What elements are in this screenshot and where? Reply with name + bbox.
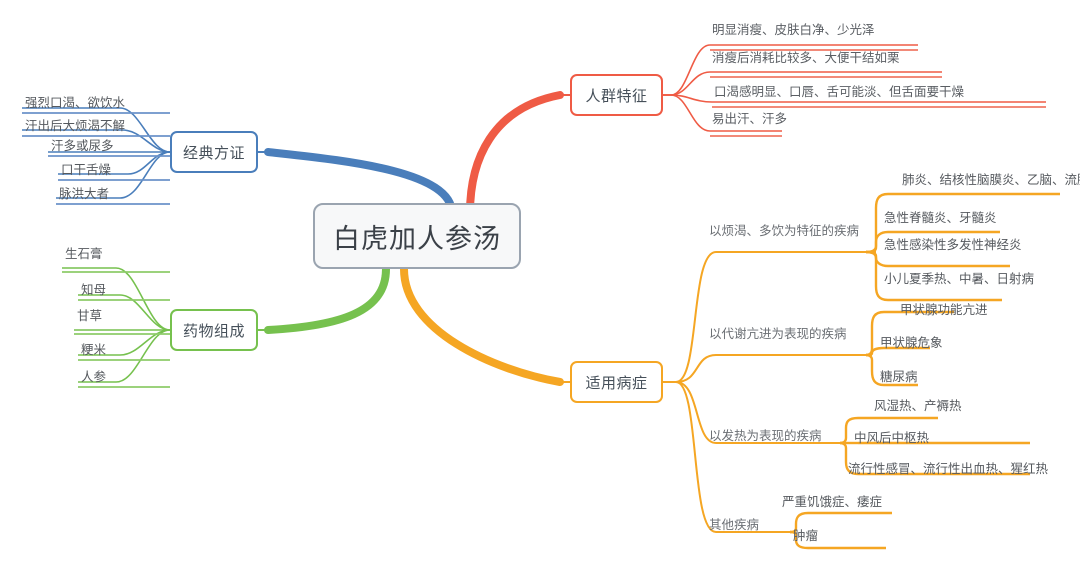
leaf-population-4[interactable]: 易出汗、汗多 bbox=[712, 112, 787, 126]
leaf-other-1[interactable]: 严重饥饿症、痿症 bbox=[782, 495, 882, 509]
leaf-drug-3[interactable]: 甘草 bbox=[77, 309, 102, 323]
leaf-classic-3[interactable]: 汗多或尿多 bbox=[51, 139, 114, 153]
leaf-classic-5[interactable]: 脉洪大者 bbox=[59, 187, 109, 201]
leaf-drug-4[interactable]: 粳米 bbox=[81, 343, 106, 357]
leaf-classic-4[interactable]: 口干舌燥 bbox=[61, 163, 111, 177]
leaf-metabolic-1[interactable]: 甲状腺功能亢进 bbox=[900, 303, 988, 317]
branch-node-drug-composition[interactable]: 药物组成 bbox=[170, 309, 258, 351]
leaf-population-3[interactable]: 口渴感明显、口唇、舌可能淡、但舌面要干燥 bbox=[714, 85, 964, 99]
leaf-population-2[interactable]: 消瘦后消耗比较多、大便干结如栗 bbox=[712, 51, 900, 65]
leaf-thirst-1[interactable]: 肺炎、结核性脑膜炎、乙脑、流脑 bbox=[902, 173, 1080, 187]
group-label-metabolic-diseases[interactable]: 以代谢亢进为表现的疾病 bbox=[709, 327, 847, 341]
central-node-label: 白虎加人参汤 bbox=[333, 217, 501, 256]
leaf-thirst-3[interactable]: 急性感染性多发性神经炎 bbox=[884, 238, 1022, 252]
branch-node-label: 人群特征 bbox=[585, 85, 647, 106]
branch-node-population-traits[interactable]: 人群特征 bbox=[570, 74, 663, 116]
leaf-fever-2[interactable]: 中风后中枢热 bbox=[854, 431, 929, 445]
leaf-thirst-2[interactable]: 急性脊髓炎、牙髓炎 bbox=[884, 211, 997, 225]
leaf-other-2[interactable]: 肿瘤 bbox=[793, 529, 818, 543]
group-label-other-diseases[interactable]: 其他疾病 bbox=[709, 518, 759, 532]
branch-node-label: 药物组成 bbox=[183, 320, 245, 341]
leaf-classic-2[interactable]: 汗出后大烦渴不解 bbox=[25, 119, 125, 133]
leaf-metabolic-3[interactable]: 糖尿病 bbox=[880, 370, 918, 384]
leaf-drug-2[interactable]: 知母 bbox=[81, 283, 106, 297]
mindmap-canvas: 白虎加人参汤 经典方证 药物组成 人群特征 适用病症 强烈口渴、欲饮水 汗出后大… bbox=[0, 0, 1080, 575]
group-label-thirst-diseases[interactable]: 以烦渴、多饮为特征的疾病 bbox=[709, 224, 859, 238]
group-label-fever-diseases[interactable]: 以发热为表现的疾病 bbox=[709, 429, 822, 443]
leaf-drug-5[interactable]: 人参 bbox=[81, 370, 106, 384]
leaf-metabolic-2[interactable]: 甲状腺危象 bbox=[880, 336, 943, 350]
leaf-thirst-4[interactable]: 小儿夏季热、中暑、日射病 bbox=[884, 272, 1034, 286]
leaf-fever-1[interactable]: 风湿热、产褥热 bbox=[874, 399, 962, 413]
leaf-drug-1[interactable]: 生石膏 bbox=[65, 247, 103, 261]
leaf-population-1[interactable]: 明显消瘦、皮肤白净、少光泽 bbox=[712, 23, 875, 37]
branch-node-classic-formula[interactable]: 经典方证 bbox=[170, 131, 258, 173]
branch-node-indications[interactable]: 适用病症 bbox=[570, 361, 663, 403]
leaf-classic-1[interactable]: 强烈口渴、欲饮水 bbox=[25, 96, 125, 110]
central-node[interactable]: 白虎加人参汤 bbox=[313, 203, 521, 269]
leaf-fever-3[interactable]: 流行性感冒、流行性出血热、猩红热 bbox=[848, 462, 1048, 476]
branch-node-label: 适用病症 bbox=[585, 372, 647, 393]
branch-node-label: 经典方证 bbox=[183, 142, 245, 163]
